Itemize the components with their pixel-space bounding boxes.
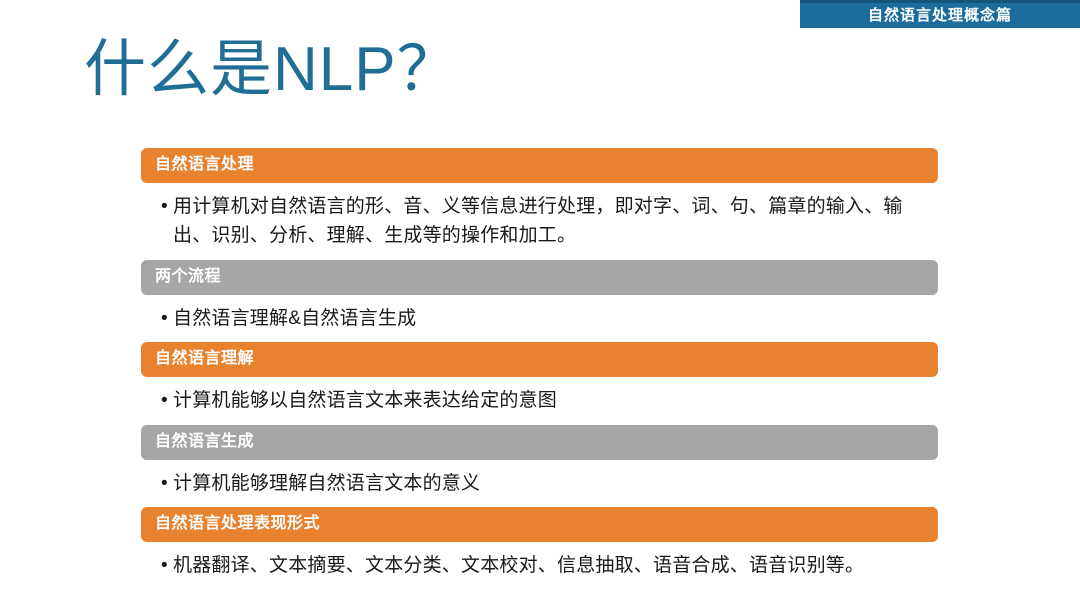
section-natural-language-understanding: 自然语言理解 • 计算机能够以自然语言文本来表达给定的意图 (141, 342, 938, 424)
section-natural-language-processing: 自然语言处理 • 用计算机对自然语言的形、音、义等信息进行处理，即对字、词、句、… (141, 148, 938, 260)
bullet-marker-icon: • (161, 551, 171, 580)
corner-banner-label: 自然语言处理概念篇 (868, 8, 1012, 23)
bullet-text: 自然语言理解&自然语言生成 (171, 304, 938, 333)
bullet-item: • 计算机能够理解自然语言文本的意义 (141, 460, 938, 507)
section-heading-bar: 自然语言处理 (141, 148, 938, 183)
bullet-marker-icon: • (161, 469, 171, 498)
bullet-marker-icon: • (161, 386, 171, 415)
section-two-processes: 两个流程 • 自然语言理解&自然语言生成 (141, 260, 938, 342)
bullet-text: 机器翻译、文本摘要、文本分类、文本校对、信息抽取、语音合成、语音识别等。 (171, 551, 938, 580)
bullet-marker-icon: • (161, 304, 171, 333)
bullet-item: • 自然语言理解&自然语言生成 (141, 295, 938, 342)
content-stack: 自然语言处理 • 用计算机对自然语言的形、音、义等信息进行处理，即对字、词、句、… (141, 148, 938, 590)
page-title: 什么是NLP？ (84, 34, 460, 105)
section-heading-bar: 自然语言生成 (141, 425, 938, 460)
bullet-text: 计算机能够以自然语言文本来表达给定的意图 (171, 386, 938, 415)
section-heading-bar: 自然语言理解 (141, 342, 938, 377)
corner-banner: 自然语言处理概念篇 (800, 0, 1080, 28)
section-heading-bar: 两个流程 (141, 260, 938, 295)
bullet-marker-icon: • (161, 192, 171, 221)
section-natural-language-generation: 自然语言生成 • 计算机能够理解自然语言文本的意义 (141, 425, 938, 507)
bullet-item: • 用计算机对自然语言的形、音、义等信息进行处理，即对字、词、句、篇章的输入、输… (141, 183, 938, 260)
bullet-item: • 机器翻译、文本摘要、文本分类、文本校对、信息抽取、语音合成、语音识别等。 (141, 542, 938, 589)
section-heading-bar: 自然语言处理表现形式 (141, 507, 938, 542)
section-nlp-manifestations: 自然语言处理表现形式 • 机器翻译、文本摘要、文本分类、文本校对、信息抽取、语音… (141, 507, 938, 589)
bullet-text: 用计算机对自然语言的形、音、义等信息进行处理，即对字、词、句、篇章的输入、输出、… (171, 192, 938, 251)
bullet-text: 计算机能够理解自然语言文本的意义 (171, 469, 938, 498)
bullet-item: • 计算机能够以自然语言文本来表达给定的意图 (141, 377, 938, 424)
